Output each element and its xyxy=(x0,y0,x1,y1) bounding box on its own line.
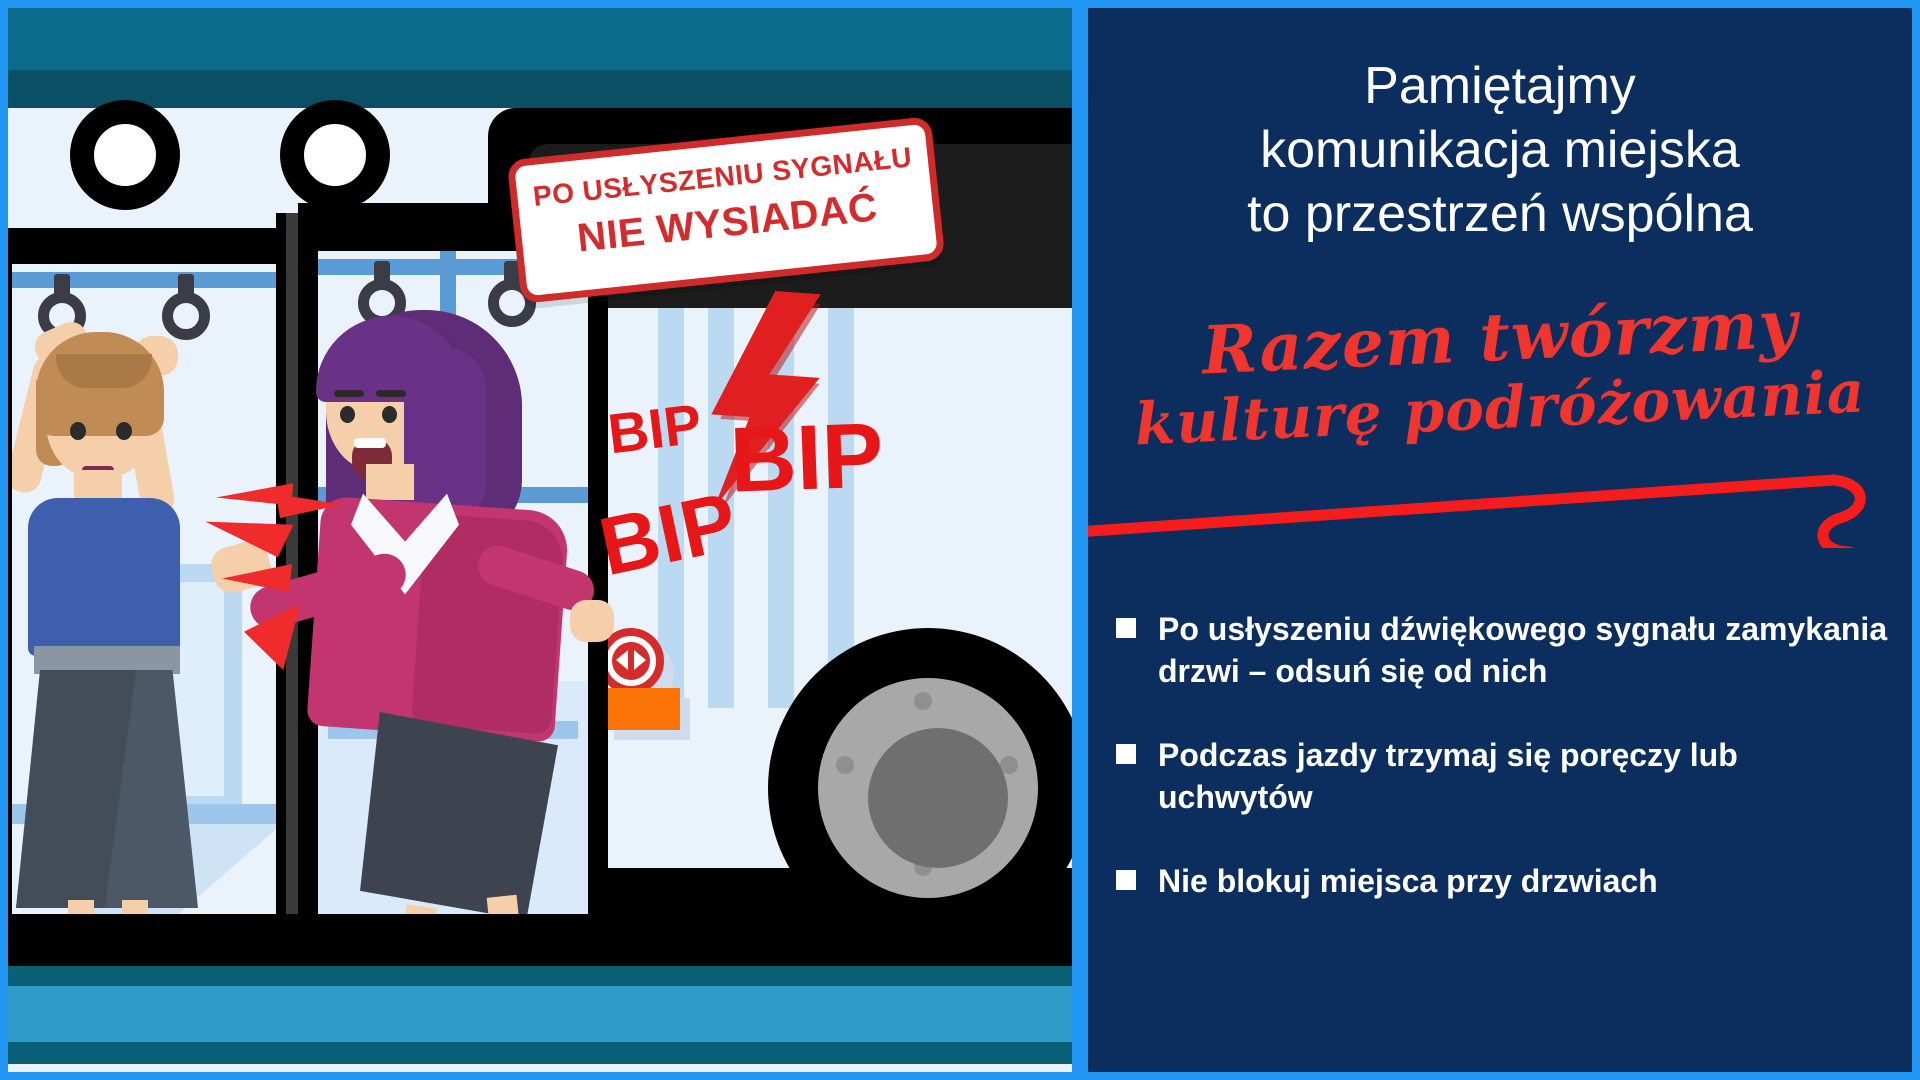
bullet-square-icon xyxy=(1116,870,1136,890)
bip-text-2: BIP xyxy=(728,404,885,511)
bus-illustration: PO USŁYSZENIU SYGNAŁU NIE WYSIADAĆ BIP B… xyxy=(8,8,1072,1072)
heading-line-2: komunikacja miejska xyxy=(1088,118,1912,182)
tip-text-2: Podczas jazdy trzymaj się poręczy lub uc… xyxy=(1158,734,1892,818)
passenger-holding-strap xyxy=(12,294,272,954)
bip-text-1: BIP xyxy=(605,392,705,466)
bus-wheel-hub xyxy=(868,728,1008,868)
ground-band-teal-lower xyxy=(8,1042,1072,1064)
ground-band-blue xyxy=(8,986,1072,1044)
w1-fringe xyxy=(56,354,152,388)
bus-roof-band-upper xyxy=(8,8,1072,70)
bullet-square-icon xyxy=(1116,618,1136,638)
passenger-caught-in-door xyxy=(308,308,638,1008)
heading-line-3: to przestrzeń wspólna xyxy=(1088,182,1912,246)
w1-torso xyxy=(28,498,180,656)
list-item: Po usłyszeniu dźwiękowego sygnału zamyka… xyxy=(1116,608,1892,692)
list-item: Podczas jazdy trzymaj się poręczy lub uc… xyxy=(1116,734,1892,818)
bus-underbody xyxy=(8,914,1072,969)
w2-neck xyxy=(366,464,414,500)
tips-list: Po usłyszeniu dźwiękowego sygnału zamyka… xyxy=(1116,608,1892,944)
ground-band-teal-upper xyxy=(8,966,1072,988)
w2-brow-left xyxy=(334,390,364,397)
bullet-square-icon xyxy=(1116,744,1136,764)
list-item: Nie blokuj miejsca przy drzwiach xyxy=(1116,860,1892,902)
message-panel: Pamiętajmy komunikacja miejska to przest… xyxy=(1088,8,1912,1072)
w2-skirt xyxy=(360,712,558,920)
sound-effect-bip-2: BIP xyxy=(728,403,885,513)
w2-hand-back xyxy=(570,600,614,642)
roof-hatch-ring-2 xyxy=(280,100,390,210)
roof-hatch-ring-1 xyxy=(70,100,180,210)
slogan-underline-swoosh xyxy=(1088,428,1912,548)
w1-belt xyxy=(34,646,180,674)
door-left-glass xyxy=(12,264,284,954)
w1-eye-right xyxy=(116,422,132,440)
sound-effect-bip-1: BIP xyxy=(604,391,705,467)
heading-line-1: Pamiętajmy xyxy=(1088,54,1912,118)
poster-root: PO USŁYSZENIU SYGNAŁU NIE WYSIADAĆ BIP B… xyxy=(0,0,1920,1080)
w1-eye-left xyxy=(70,422,86,440)
tip-text-3: Nie blokuj miejsca przy drzwiach xyxy=(1158,860,1658,902)
w2-brow-right xyxy=(376,390,406,397)
panel-heading: Pamiętajmy komunikacja miejska to przest… xyxy=(1088,54,1912,246)
tip-text-1: Po usłyszeniu dźwiękowego sygnału zamyka… xyxy=(1158,608,1892,692)
w2-eye-right xyxy=(382,406,397,423)
w2-teeth xyxy=(354,438,386,448)
bus-roof-band-lower xyxy=(8,70,1072,108)
w2-eye-left xyxy=(340,406,355,423)
